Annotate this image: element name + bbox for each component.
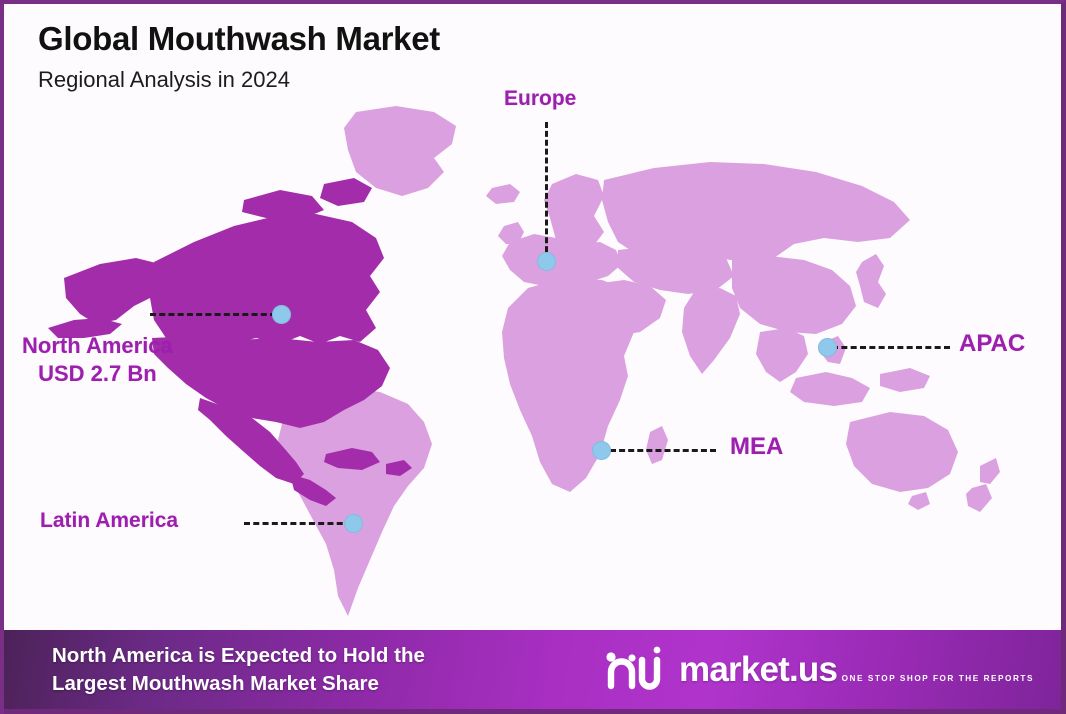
callout-latin-america: Latin America	[40, 508, 178, 535]
header: Global Mouthwash Market Regional Analysi…	[38, 20, 440, 93]
logo-name: market.us	[679, 650, 837, 689]
callout-latin-america-label: Latin America	[40, 508, 178, 535]
callout-europe-label: Europe	[504, 86, 576, 113]
callout-europe: Europe	[504, 86, 576, 113]
region-iceland	[486, 184, 520, 204]
region-sea-mainland	[756, 328, 808, 382]
callout-mea: MEA	[730, 432, 783, 463]
marker-latin-america	[344, 514, 363, 533]
callout-north-america-value: USD 2.7 Bn	[22, 360, 173, 388]
infographic-root: Global Mouthwash Market Regional Analysi…	[0, 0, 1066, 714]
logo-wordmark: market.us ONE STOP SHOP FOR THE REPORTS	[679, 652, 1034, 687]
logo-tagline: ONE STOP SHOP FOR THE REPORTS	[842, 674, 1034, 683]
leader-line-europe	[545, 122, 548, 261]
leader-line-latin-america	[244, 522, 352, 525]
marker-europe	[537, 252, 556, 271]
region-africa	[502, 278, 638, 492]
region-indonesia	[790, 372, 870, 406]
logo-dot-left	[606, 652, 615, 661]
callout-apac: APAC	[959, 329, 1025, 360]
callout-mea-label: MEA	[730, 432, 783, 463]
callout-apac-label: APAC	[959, 329, 1025, 360]
region-alaska	[64, 258, 164, 324]
marker-apac	[818, 338, 837, 357]
banner-line-1: North America is Expected to Hold the	[52, 642, 425, 669]
marker-mea	[592, 441, 611, 460]
leader-line-mea	[610, 449, 716, 452]
market-us-logo-icon	[601, 642, 667, 697]
map-base-regions	[278, 106, 1000, 616]
logo-dot-mid	[628, 654, 635, 661]
region-canada-arctic-2	[320, 178, 372, 206]
marker-north-america	[272, 305, 291, 324]
region-tasmania	[908, 492, 930, 510]
region-europe-west	[502, 234, 622, 286]
region-madagascar	[646, 426, 668, 464]
callout-north-america: North America USD 2.7 Bn	[22, 332, 173, 388]
region-new-zealand	[966, 458, 1000, 512]
region-india	[682, 288, 740, 374]
banner-message: North America is Expected to Hold the La…	[52, 642, 425, 696]
leader-line-apac	[832, 346, 950, 349]
callout-north-america-label: North America	[22, 332, 173, 360]
region-japan	[856, 254, 886, 308]
banner-line-2: Largest Mouthwash Market Share	[52, 670, 425, 697]
region-canada	[150, 214, 384, 344]
footer-banner: North America is Expected to Hold the La…	[4, 630, 1066, 714]
page-subtitle: Regional Analysis in 2024	[38, 67, 440, 93]
region-papua	[880, 368, 930, 392]
page-title: Global Mouthwash Market	[38, 20, 440, 58]
brand-logo[interactable]: market.us ONE STOP SHOP FOR THE REPORTS	[601, 642, 1048, 697]
logo-dot-right	[654, 647, 661, 654]
leader-line-north-america	[150, 313, 276, 316]
region-china	[732, 256, 856, 334]
region-australia	[846, 412, 958, 492]
